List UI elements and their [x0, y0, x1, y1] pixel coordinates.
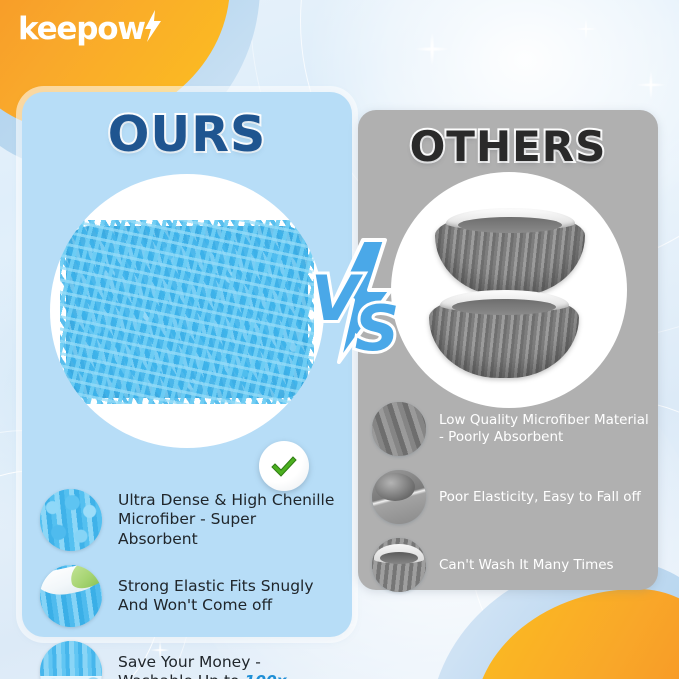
ours-panel: OURS Ultra Dense & High Chenille Microfi…: [22, 92, 352, 637]
others-panel-title: OTHERS: [358, 126, 658, 168]
others-hero-product-image: [391, 172, 627, 408]
feature-text: Save Your Money - Washable Up to 100x: [118, 653, 340, 679]
check-icon: [268, 450, 300, 482]
list-item: Ultra Dense & High Chenille Microfiber -…: [22, 484, 352, 556]
blue-pad-washing-water-thumb: [40, 641, 102, 679]
gray-mop-pad-image: [429, 294, 579, 378]
brand-logo-text: keepow: [18, 14, 145, 45]
sparkle-icon: [636, 70, 666, 100]
lightning-bolt-icon: [142, 10, 162, 47]
ours-feature-list: Ultra Dense & High Chenille Microfiber -…: [22, 484, 352, 679]
sparkle-icon: [575, 18, 597, 40]
gray-pad-falling-off-thumb: [372, 470, 426, 524]
feature-text: Strong Elastic Fits Snugly And Won't Com…: [118, 577, 340, 615]
blue-pad-elastic-band-thumb: [40, 565, 102, 627]
feature-text: Poor Elasticity, Easy to Fall off: [439, 489, 641, 506]
vs-badge: V S: [305, 238, 417, 364]
sparkle-icon: [415, 32, 449, 66]
list-item: Strong Elastic Fits Snugly And Won't Com…: [22, 560, 352, 632]
feature-text: Low Quality Microfiber Material - Poorly…: [439, 412, 653, 445]
gray-mop-pad-image: [435, 212, 585, 296]
list-item: Low Quality Microfiber Material - Poorly…: [358, 398, 658, 460]
gray-pad-elastic-thumb: [372, 538, 426, 592]
list-item: Can't Wash It Many Times: [358, 534, 658, 596]
washable-count-highlight: 100x: [244, 672, 286, 679]
feature-text: Ultra Dense & High Chenille Microfiber -…: [118, 491, 340, 549]
elastic-band: [440, 290, 569, 312]
elastic-band: [446, 208, 575, 230]
ours-hero-product-image: [50, 174, 324, 448]
ours-panel-title: OURS: [22, 110, 352, 159]
check-mark-badge: [259, 441, 309, 491]
list-item: Save Your Money - Washable Up to 100x: [22, 636, 352, 679]
others-feature-list: Low Quality Microfiber Material - Poorly…: [358, 398, 658, 602]
brand-logo: keepow: [18, 14, 162, 47]
feature-text-plain: Save Your Money - Washable Up to: [118, 653, 261, 679]
gray-microfiber-closeup-thumb: [372, 402, 426, 456]
list-item: Poor Elasticity, Easy to Fall off: [358, 466, 658, 528]
infographic-canvas: keepow OURS Ultra Dense & High Chenille …: [0, 0, 679, 679]
blue-chenille-closeup-thumb: [40, 489, 102, 551]
blue-chenille-mop-pad-image: [66, 226, 308, 398]
vs-letter-s: S: [355, 292, 400, 364]
feature-text: Can't Wash It Many Times: [439, 557, 614, 574]
